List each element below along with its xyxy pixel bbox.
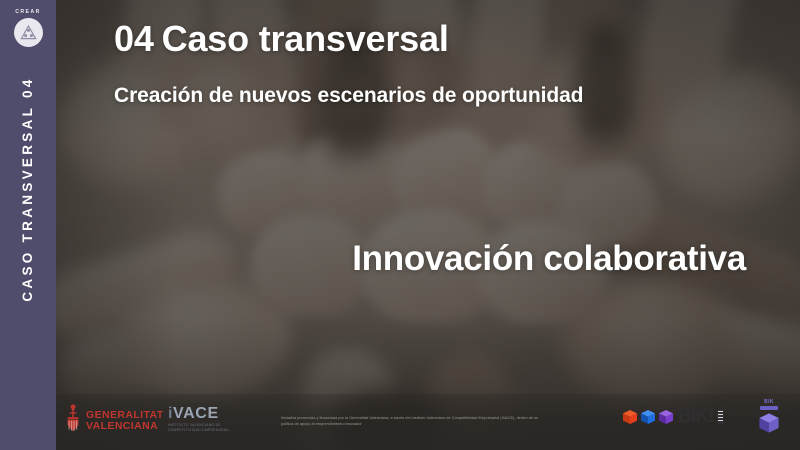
partner-cube-wordmark: BIK [746, 399, 792, 405]
generalitat-wordmark: GENERALITAT VALENCIANA [86, 410, 164, 433]
page-title: 04Caso transversal [114, 18, 449, 60]
ivace-subline-2: COMPETITIVIDAD EMPRESARIAL [168, 428, 230, 432]
background-photo [0, 0, 800, 450]
main-headline: Innovación colaborativa [352, 239, 746, 279]
partner-cube-logo: BIK [746, 399, 792, 439]
page-subtitle: Creación de nuevos escenarios de oportun… [114, 84, 583, 108]
section-number: 04 [114, 18, 154, 59]
sidebar: CREAR CASO TRANSVERSAL 04 [0, 0, 56, 450]
cube-purple-large-icon [758, 412, 780, 434]
generalitat-valenciana-logo: GENERALITAT VALENCIANA [65, 404, 164, 438]
bik-mark-icon [717, 409, 724, 424]
generalitat-valenciana-crest-icon [65, 404, 81, 438]
ivace-wordmark: iVACE [168, 405, 230, 422]
footer-bar: GENERALITAT VALENCIANA iVACE INSTITUTO V… [56, 394, 800, 450]
ivace-logo: iVACE INSTITUTO VALENCIANO DE COMPETITIV… [168, 405, 230, 433]
bik-logo: BIK! [622, 407, 724, 426]
cube-red-icon [622, 409, 638, 425]
bik-wordmark: BIK! [678, 407, 714, 426]
ivace-subline-1: INSTITUTO VALENCIANO DE [168, 423, 230, 427]
presentation-slide: CREAR CASO TRANSVERSAL 04 04Caso transve… [0, 0, 800, 450]
generalitat-line-2: VALENCIANA [86, 421, 164, 433]
ivace-word: VACE [173, 405, 219, 422]
section-title: Caso transversal [162, 18, 449, 59]
sidebar-vertical-label: CASO TRANSVERSAL 04 [0, 0, 56, 414]
partner-cube-chip-icon [760, 406, 778, 410]
cube-purple-icon [658, 409, 674, 425]
legal-disclaimer: Iniciativa promovida y financiada por la… [281, 415, 546, 426]
cube-blue-icon [640, 409, 656, 425]
